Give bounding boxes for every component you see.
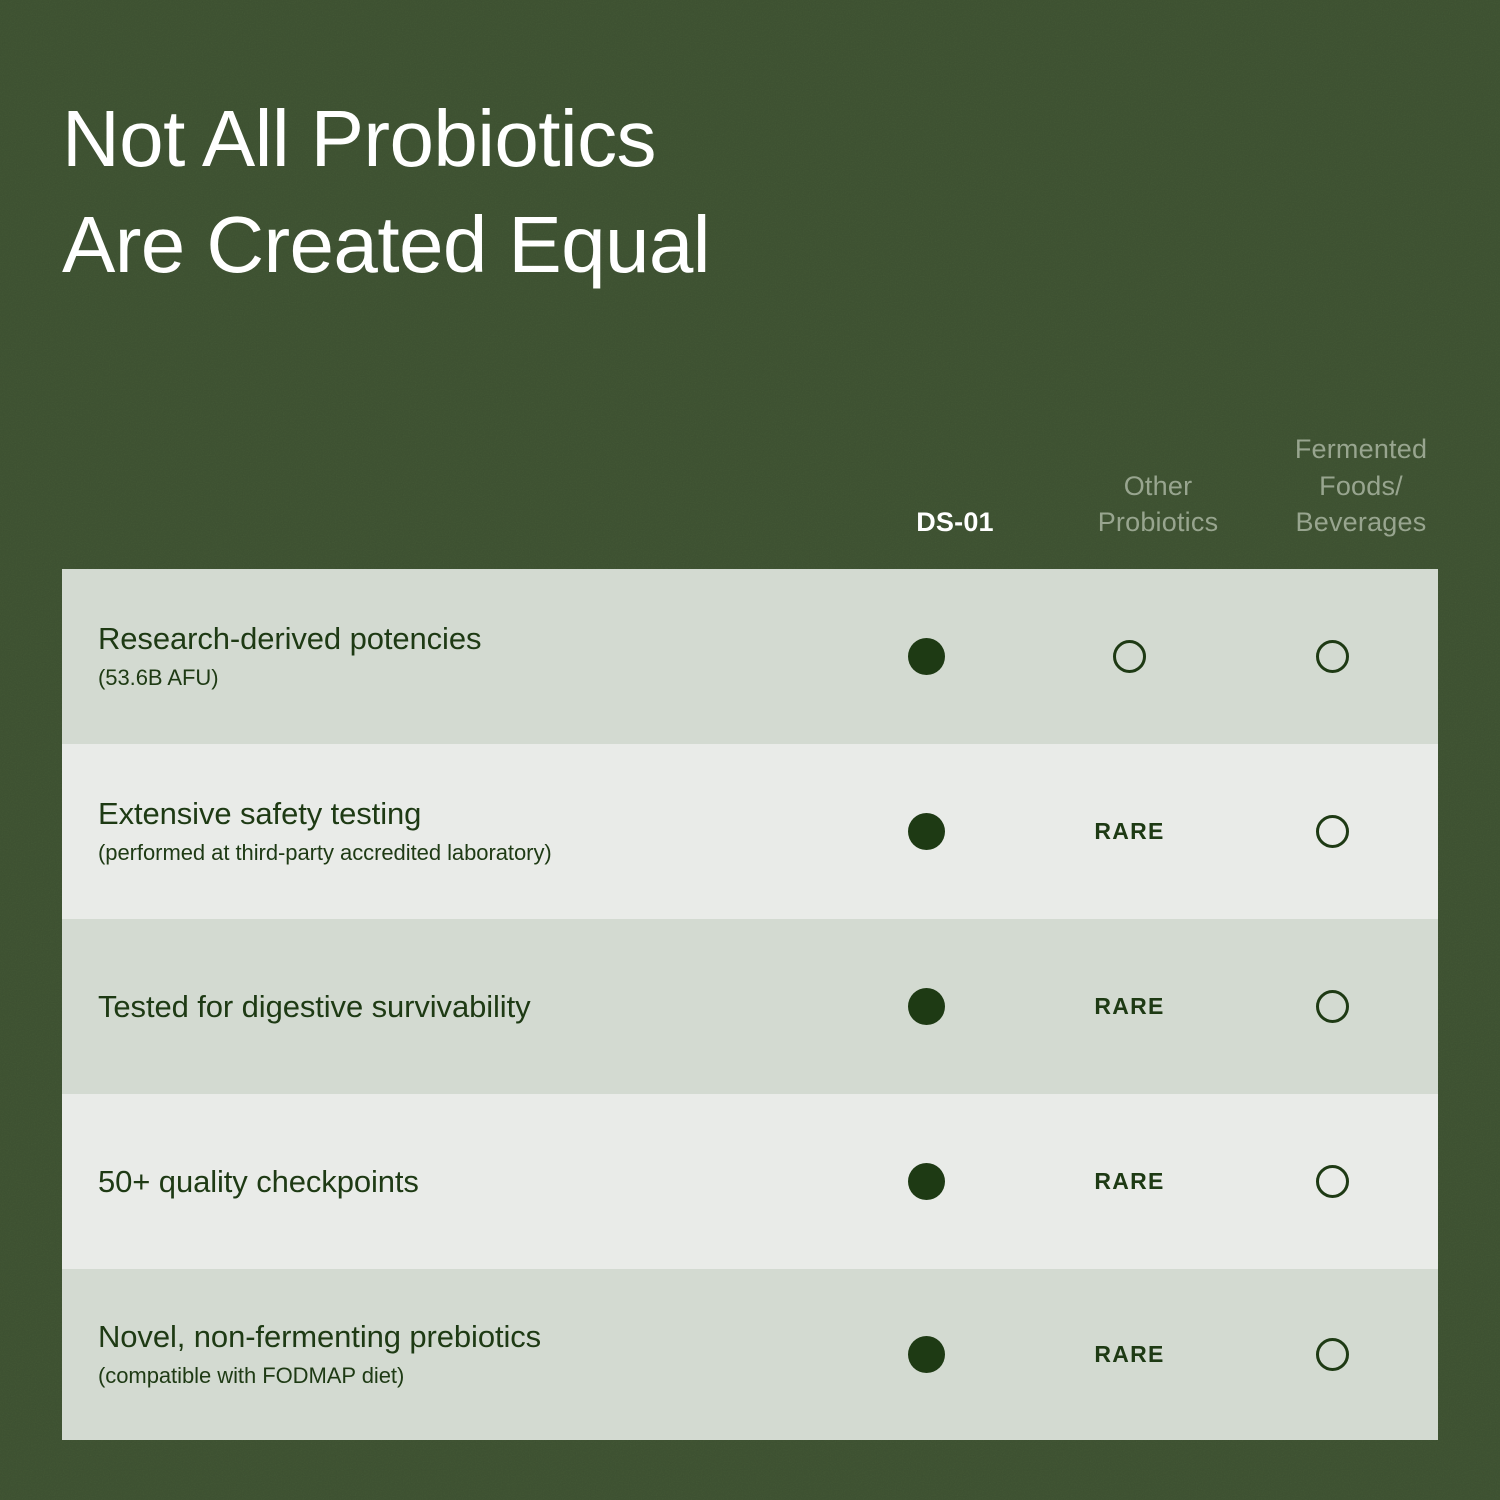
table-row-title: Novel, non-fermenting prebiotics	[98, 1318, 815, 1356]
cell-fermented-foods	[1231, 1094, 1434, 1269]
empty-circle-icon	[1316, 1338, 1349, 1371]
filled-circle-icon	[908, 988, 945, 1025]
cell-other-probiotics: RARE	[1028, 744, 1231, 919]
cell-ds01	[825, 919, 1028, 1094]
column-header-fermented-foods-line-3: Beverages	[1231, 504, 1491, 540]
page-title: Not All Probiotics Are Created Equal	[62, 86, 1062, 297]
cell-ds01	[825, 744, 1028, 919]
table-row-title: 50+ quality checkpoints	[98, 1163, 815, 1201]
cell-fermented-foods	[1231, 744, 1434, 919]
filled-circle-icon	[908, 813, 945, 850]
table-row-title: Tested for digestive survivability	[98, 988, 815, 1026]
table-row: Novel, non-fermenting prebiotics (compat…	[62, 1269, 1438, 1440]
table-row-subtitle: (compatible with FODMAP diet)	[98, 1362, 815, 1391]
table-row-subtitle: (53.6B AFU)	[98, 664, 815, 693]
cell-ds01	[825, 1269, 1028, 1440]
column-header-fermented-foods-line-1: Fermented	[1231, 431, 1491, 467]
cell-fermented-foods	[1231, 569, 1434, 744]
table-column-headers: DS-01 Other Probiotics Fermented Foods/ …	[62, 414, 1438, 540]
empty-circle-icon	[1316, 990, 1349, 1023]
empty-circle-icon	[1316, 1165, 1349, 1198]
page-title-line-1: Not All Probiotics	[62, 86, 1062, 192]
cell-other-probiotics	[1028, 569, 1231, 744]
table-row-label: Extensive safety testing (performed at t…	[62, 795, 825, 867]
table-row-label: Novel, non-fermenting prebiotics (compat…	[62, 1318, 825, 1390]
cell-fermented-foods	[1231, 1269, 1434, 1440]
cell-ds01	[825, 1094, 1028, 1269]
filled-circle-icon	[908, 1336, 945, 1373]
table-row-label: Research-derived potencies (53.6B AFU)	[62, 620, 825, 692]
column-header-fermented-foods-line-2: Foods/	[1231, 468, 1491, 504]
cell-fermented-foods	[1231, 919, 1434, 1094]
empty-circle-icon	[1316, 640, 1349, 673]
cell-other-probiotics: RARE	[1028, 1269, 1231, 1440]
table-row: Research-derived potencies (53.6B AFU)	[62, 569, 1438, 744]
cell-other-probiotics: RARE	[1028, 919, 1231, 1094]
table-row-subtitle: (performed at third-party accredited lab…	[98, 839, 815, 868]
table-row-title: Research-derived potencies	[98, 620, 815, 658]
empty-circle-icon	[1113, 640, 1146, 673]
rare-label: RARE	[1094, 1168, 1164, 1195]
table-row: Tested for digestive survivability RARE	[62, 919, 1438, 1094]
table-row-title: Extensive safety testing	[98, 795, 815, 833]
table-row: 50+ quality checkpoints RARE	[62, 1094, 1438, 1269]
rare-label: RARE	[1094, 1341, 1164, 1368]
rare-label: RARE	[1094, 818, 1164, 845]
empty-circle-icon	[1316, 815, 1349, 848]
cell-other-probiotics: RARE	[1028, 1094, 1231, 1269]
rare-label: RARE	[1094, 993, 1164, 1020]
infographic-canvas: Not All Probiotics Are Created Equal DS-…	[0, 0, 1500, 1500]
filled-circle-icon	[908, 1163, 945, 1200]
table-row-label: Tested for digestive survivability	[62, 988, 825, 1026]
table-row: Extensive safety testing (performed at t…	[62, 744, 1438, 919]
filled-circle-icon	[908, 638, 945, 675]
table-row-label: 50+ quality checkpoints	[62, 1163, 825, 1201]
page-title-line-2: Are Created Equal	[62, 192, 1062, 298]
comparison-table: Research-derived potencies (53.6B AFU) E…	[62, 569, 1438, 1440]
column-header-fermented-foods: Fermented Foods/ Beverages	[1231, 431, 1491, 540]
cell-ds01	[825, 569, 1028, 744]
